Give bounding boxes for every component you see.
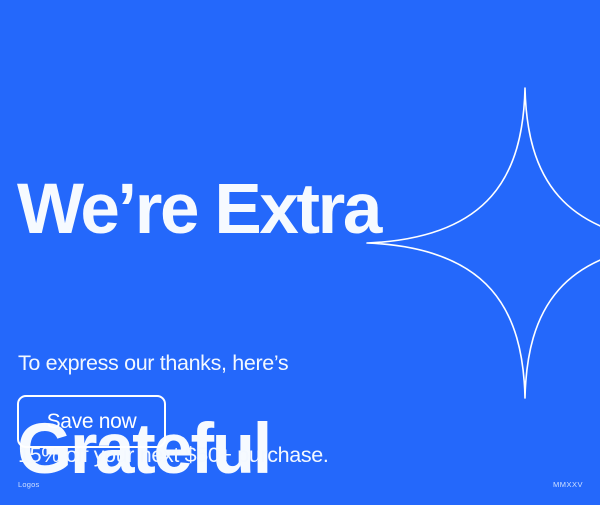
promo-card: We’re Extra Grateful for You To express … — [0, 0, 600, 505]
brand-footer-label: Logos — [18, 480, 39, 489]
offer-line-1: To express our thanks, here’s — [18, 348, 329, 379]
save-now-button-label: Save now — [47, 410, 137, 434]
year-footer-label: MMXXV — [553, 480, 583, 489]
save-now-button[interactable]: Save now — [17, 395, 166, 448]
headline-line-1: We’re Extra — [17, 170, 380, 250]
card-content: We’re Extra Grateful for You To express … — [0, 0, 600, 505]
